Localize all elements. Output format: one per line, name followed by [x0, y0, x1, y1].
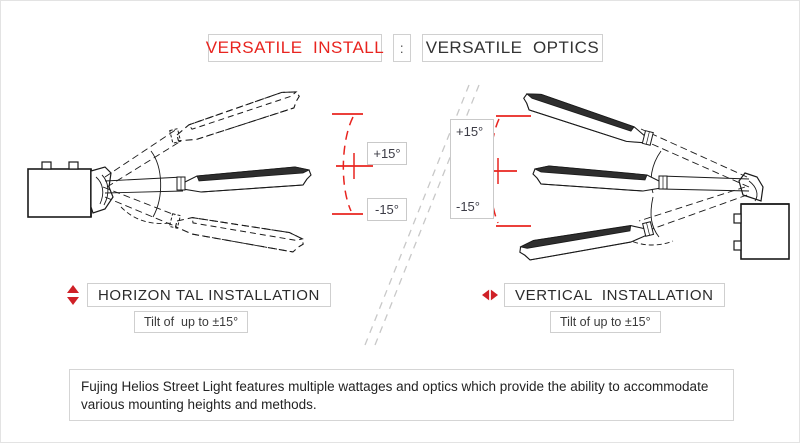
angle-label-down-right: -15°: [456, 199, 480, 214]
diagram-canvas: VERSATILE INSTALL : VERSATILE OPTICS: [0, 0, 800, 443]
horizontal-installation-label: HORIZON TAL INSTALLATION: [87, 283, 331, 307]
angle-label-up-left: +15°: [367, 142, 407, 165]
luminaire-head-neutral-right: [533, 166, 667, 191]
luminaire-head-neutral-left: [177, 167, 311, 192]
horizontal-install-drawing: [28, 89, 311, 261]
left-right-arrow-icon: [482, 284, 498, 306]
up-down-arrow-icon: [65, 284, 81, 306]
angle-label-group-right: +15° -15°: [450, 119, 494, 219]
luminaire-head-up-left: [167, 89, 303, 146]
luminaire-head-down-left: [169, 204, 305, 261]
product-description: Fujing Helios Street Light features mult…: [69, 369, 734, 421]
horizontal-tilt-note: Tilt of up to ±15°: [134, 311, 248, 333]
pole-mount-bracket-left: [28, 162, 91, 217]
vertical-installation-caption: VERTICAL INSTALLATION: [482, 283, 725, 307]
luminaire-head-down-right: [518, 212, 654, 269]
vertical-installation-label: VERTICAL INSTALLATION: [504, 283, 725, 307]
angle-label-down-left: -15°: [367, 198, 407, 221]
luminaire-head-up-right: [520, 91, 656, 148]
angle-label-up-right: +15°: [456, 124, 483, 139]
pole-mount-bracket-right: [734, 204, 789, 259]
horizontal-installation-caption: HORIZON TAL INSTALLATION: [65, 283, 331, 307]
vertical-install-drawing: [518, 91, 789, 269]
vertical-tilt-note: Tilt of up to ±15°: [550, 311, 661, 333]
